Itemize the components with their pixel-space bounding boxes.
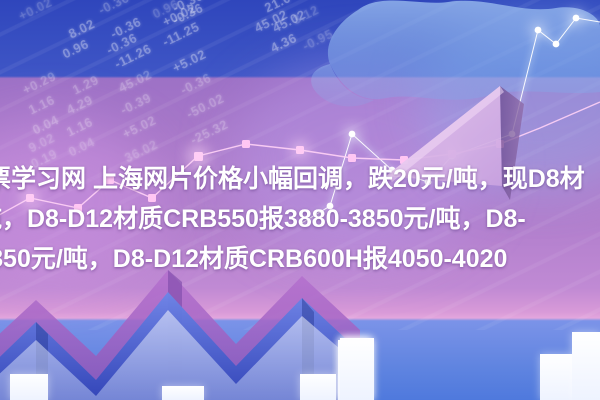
bar-item (340, 338, 374, 400)
bar-item (10, 374, 48, 400)
headline-line-2: /吨，D8-D12材质CRB550报3880-3850元/吨，D8- (0, 204, 526, 234)
bar-item (300, 374, 336, 400)
headline-text-block: 票学习网 上海网片价格小幅回调，跌20元/吨，现D8材 /吨，D8-D12材质C… (0, 160, 600, 282)
banner-image: +0.02 -0.36 +0.02 -0.36 -0.36 21.0 -0.36… (0, 0, 600, 400)
bar-item (572, 332, 600, 400)
bar-chart-bottom (0, 320, 600, 400)
headline-line-3: 0-3850元/吨，D8-D12材质CRB600H报4050-4020 (0, 244, 507, 274)
headline-line-1: 票学习网 上海网片价格小幅回调，跌20元/吨，现D8材 (0, 164, 585, 194)
bar-item (162, 386, 204, 400)
bar-item (540, 354, 574, 400)
cloud-shape (311, 1, 600, 107)
